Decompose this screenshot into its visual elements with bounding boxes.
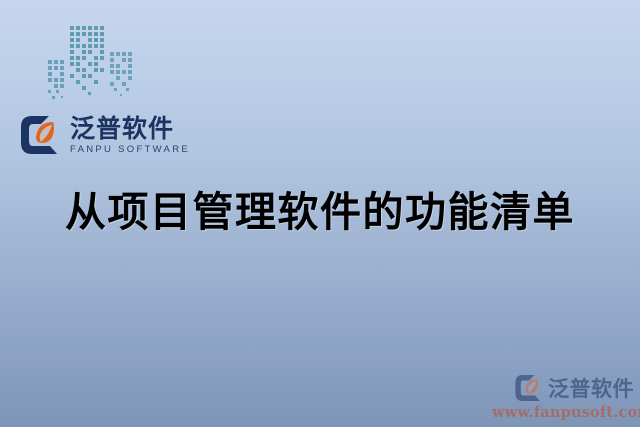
fanpu-logo-icon [19,113,63,157]
brand-name-cn: 泛普软件 [70,115,190,142]
watermark-fanpu-logo-icon [514,373,544,403]
brand-wordmark: 泛普软件 FANPU SOFTWARE [70,115,190,155]
slide-canvas: 泛普软件 FANPU SOFTWARE 从项目管理软件的功能清单 泛普软件 ww… [0,0,640,427]
brand-name-en: FANPU SOFTWARE [70,145,190,155]
skyline-pixel-group [48,26,132,99]
site-watermark: 泛普软件 www.fanpusoft.com [492,373,634,421]
pixel-skyline-decoration [44,20,148,112]
slide-headline: 从项目管理软件的功能清单 [0,188,640,236]
watermark-logo-row: 泛普软件 [492,373,634,403]
brand-logo: 泛普软件 FANPU SOFTWARE [19,113,190,157]
watermark-url: www.fanpusoft.com [492,404,634,421]
watermark-name-cn: 泛普软件 [548,373,634,403]
